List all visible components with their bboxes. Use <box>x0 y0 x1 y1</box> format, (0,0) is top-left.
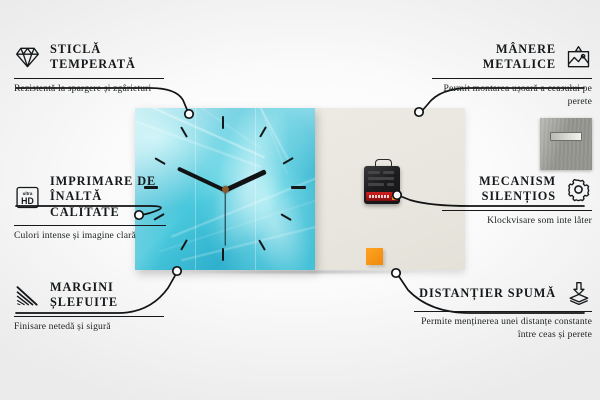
metal-hanger-plate <box>540 118 592 170</box>
callout-foam-spacer: DISTANȚIER SPUMĂ Permite menținerea unei… <box>414 281 592 342</box>
hour-tick <box>180 126 188 138</box>
ultra-hd-icon: ultra HD <box>14 185 41 210</box>
callout-title: STICLĂ TEMPERATĂ <box>50 42 164 73</box>
callout-rule <box>14 225 166 226</box>
hour-tick <box>282 157 294 165</box>
product-photo <box>135 108 465 270</box>
hour-tick <box>222 116 224 129</box>
callout-subtitle: Finisare netedă și sigură <box>14 321 164 334</box>
hour-tick <box>291 186 306 189</box>
clock-minute-hand <box>177 167 226 193</box>
callout-subtitle: Permit montarea ușoară a ceasului pe per… <box>432 83 592 109</box>
callout-header: ultra HD IMPRIMARE DE ÎNALTĂ CALITATE <box>14 174 166 220</box>
callout-header: MECANISM SILENȚIOS <box>442 174 592 205</box>
clock-center-pin <box>222 186 229 193</box>
callout-rule <box>442 210 592 211</box>
svg-text:ultra: ultra <box>23 191 33 196</box>
callout-title: DISTANȚIER SPUMĂ <box>419 286 556 301</box>
movement-detail <box>368 177 394 180</box>
callout-header: MÂNERE METALICE <box>432 42 592 73</box>
foam-stack-arrow-icon <box>565 281 592 306</box>
callout-rule <box>432 78 592 79</box>
quartz-clock-movement <box>364 166 400 204</box>
movement-detail <box>368 171 380 174</box>
hour-tick <box>180 239 188 251</box>
callout-tempered-glass: STICLĂ TEMPERATĂ Rezistentă la spargere … <box>14 42 164 96</box>
callout-header: DISTANȚIER SPUMĂ <box>414 281 592 306</box>
battery-plus-terminal <box>392 194 397 200</box>
callout-rule <box>14 316 164 317</box>
callout-title: MARGINI ȘLEFUITE <box>50 280 164 311</box>
movement-detail <box>387 183 394 186</box>
callout-title: MECANISM SILENȚIOS <box>442 174 556 205</box>
diagonal-lines-icon <box>14 283 41 308</box>
orange-foam-spacer <box>366 248 383 265</box>
callout-subtitle: Rezistentă la spargere și zgârieturi <box>14 83 164 96</box>
battery-label <box>369 195 389 198</box>
callout-title: IMPRIMARE DE ÎNALTĂ CALITATE <box>50 174 166 220</box>
hour-tick <box>280 213 292 221</box>
callout-rule <box>414 311 592 312</box>
framed-picture-icon <box>565 45 592 70</box>
callout-metal-hangers: MÂNERE METALICE Permit montarea ușoară a… <box>432 42 592 109</box>
clock-second-hand <box>224 190 225 246</box>
hanger-slot <box>550 132 582 141</box>
callout-title: MÂNERE METALICE <box>432 42 556 73</box>
svg-text:HD: HD <box>21 196 34 206</box>
hour-tick <box>154 157 166 165</box>
hour-tick <box>258 239 266 251</box>
diamond-icon <box>14 45 41 70</box>
gear-icon <box>565 177 592 202</box>
callout-header: MARGINI ȘLEFUITE <box>14 280 164 311</box>
callout-subtitle: Klockvisare som inte låter <box>442 215 592 228</box>
movement-detail <box>368 183 384 186</box>
callout-subtitle: Permite menținerea unei distanțe constan… <box>414 316 592 342</box>
infographic-canvas: STICLĂ TEMPERATĂ Rezistentă la spargere … <box>0 0 600 400</box>
callout-hq-print: ultra HD IMPRIMARE DE ÎNALTĂ CALITATE Cu… <box>14 174 166 243</box>
callout-subtitle: Culori intense și imagine clară <box>14 230 166 243</box>
clock-hour-hand <box>224 169 267 193</box>
callout-header: STICLĂ TEMPERATĂ <box>14 42 164 73</box>
aa-battery <box>366 192 398 201</box>
movement-hanger-loop <box>375 159 392 169</box>
callout-silent-mechanism: MECANISM SILENȚIOS Klockvisare som inte … <box>442 174 592 228</box>
callout-polished-edges: MARGINI ȘLEFUITE Finisare netedă și sigu… <box>14 280 164 334</box>
callout-rule <box>14 78 164 79</box>
movement-detail <box>383 171 394 174</box>
hour-tick <box>222 248 224 261</box>
hour-tick <box>259 126 267 138</box>
